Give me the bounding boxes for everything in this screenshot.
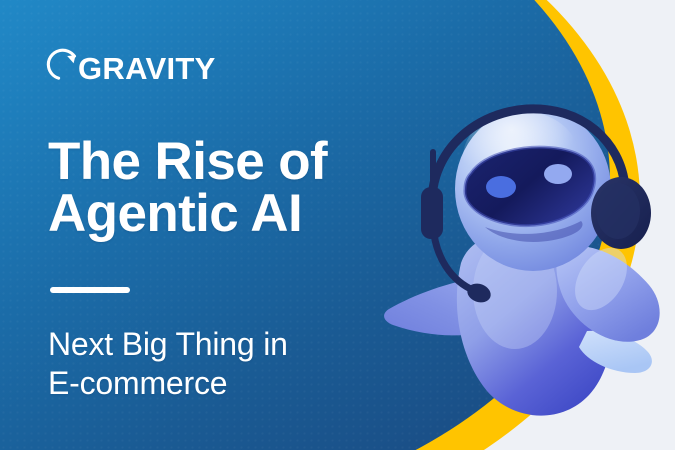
headphone-earcup-inner (596, 183, 640, 239)
gravity-swoosh-icon (44, 47, 86, 89)
brand-logo[interactable]: GRAVITY (44, 47, 216, 89)
ai-support-robot-illustration (375, 95, 675, 450)
logo-rest: RAVITY (102, 51, 215, 86)
brand-wordmark: GRAVITY (78, 53, 216, 84)
subtitle: Next Big Thing in E-commerce (48, 325, 288, 403)
eye-left (486, 176, 516, 198)
divider-rule (50, 287, 130, 293)
eye-right (544, 164, 572, 184)
headline: The Rise of Agentic AI (48, 136, 327, 241)
antenna (430, 149, 436, 191)
promo-banner: GRAVITY The Rise of Agentic AI Next Big … (0, 0, 675, 450)
